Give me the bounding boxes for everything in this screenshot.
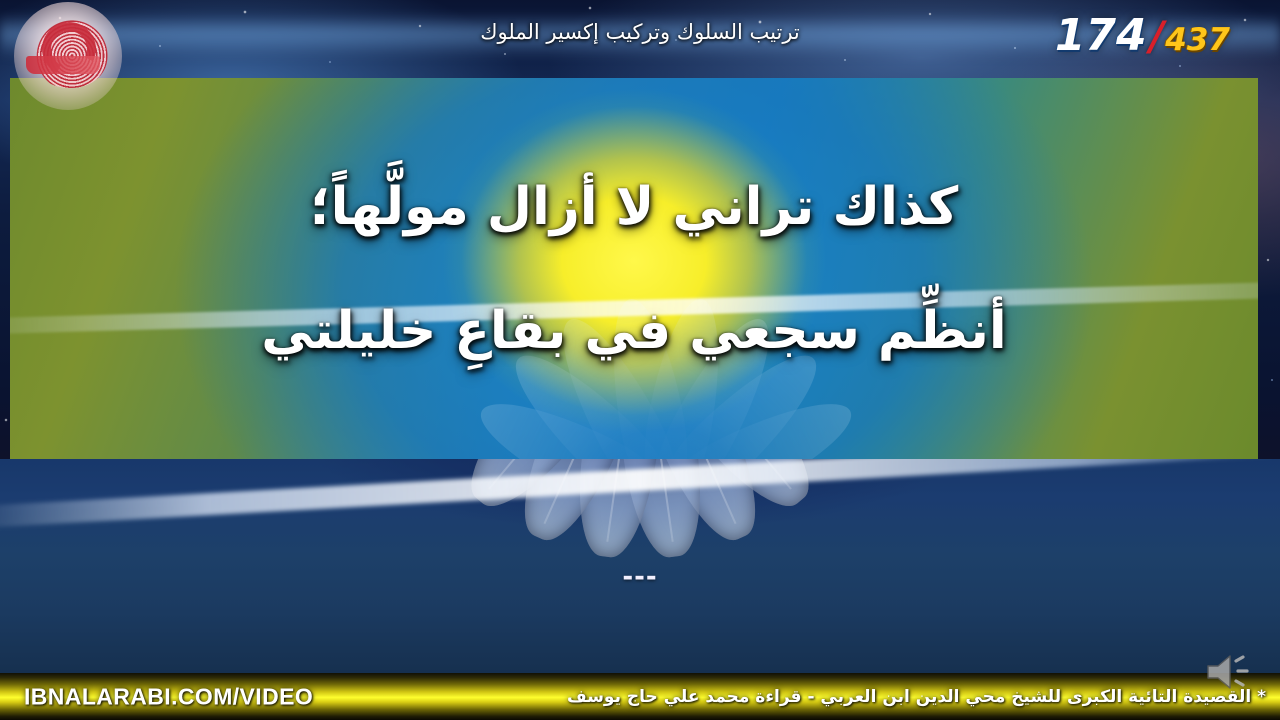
speaker-volume-icon[interactable]	[1202, 652, 1254, 692]
verse-line-2: أنظِّم سجعي في بقاعِ خليلتي	[261, 301, 1006, 361]
continuation-marker: ---	[622, 562, 657, 592]
slide-header: ترتيب السلوك وتركيب إكسير الملوك 174 / 4…	[0, 0, 1280, 78]
logo-tail-icon	[26, 56, 100, 74]
video-slide-stage: ترتيب السلوك وتركيب إكسير الملوك 174 / 4…	[0, 0, 1280, 720]
footer-bar: IBNALARABI.COM/VIDEO * القصيدة التائية ا…	[0, 673, 1280, 720]
page-counter: 174 / 437	[1055, 14, 1230, 58]
website-url[interactable]: IBNALARABI.COM/VIDEO	[24, 683, 313, 710]
verse-line-1: كذاك تراني لا أزال مولَّهاً؛	[310, 177, 958, 237]
credit-text: * القصيدة التائية الكبرى للشيخ محي الدين…	[567, 687, 1266, 707]
flower-stage: ---	[0, 459, 1280, 673]
verse-container: كذاك تراني لا أزال مولَّهاً؛ أنظِّم سجعي…	[10, 78, 1258, 459]
counter-total: 437	[1165, 25, 1230, 56]
counter-separator: /	[1150, 17, 1165, 57]
verse-panel: كذاك تراني لا أزال مولَّهاً؛ أنظِّم سجعي…	[10, 78, 1258, 459]
counter-current: 174	[1055, 14, 1147, 58]
